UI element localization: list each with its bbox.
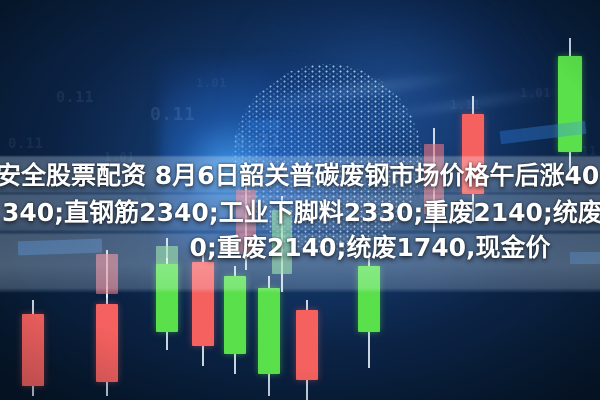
headline-line-2: 340;直钢筋2340;工业下脚料2330;重废2140;统废1 (2, 198, 600, 228)
headline-line-1: 安全股票配资 8月6日韶关普碳废钢市场价格午后涨40 (0, 161, 596, 191)
headline-line-3: 0;重废2140;统废1740,现金价 (70, 233, 600, 263)
news-thumbnail: 0.110.110.211.011.111.010.111.010.111.01… (0, 0, 600, 400)
